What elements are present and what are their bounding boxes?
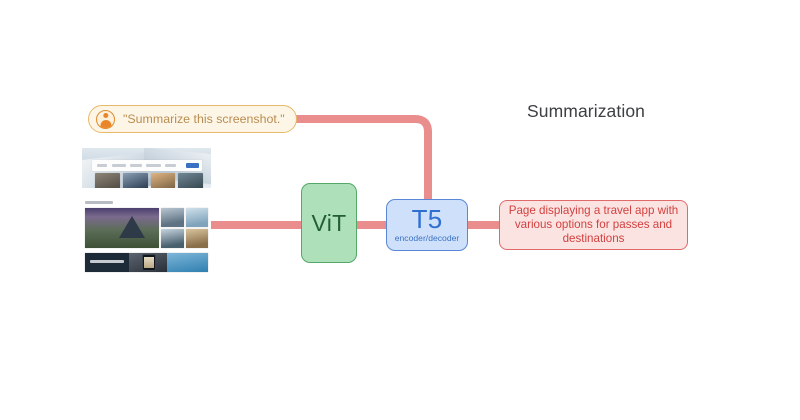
t5-title: T5: [412, 206, 443, 232]
screenshot-gallery-hero: [85, 208, 159, 248]
vit-label: ViT: [312, 210, 347, 237]
screenshot-promo-banner: [85, 253, 208, 272]
screenshot-gallery-tile: [161, 229, 184, 248]
screenshot-card: [178, 173, 203, 188]
screenshot-card-row: [95, 173, 203, 188]
screenshot-card: [95, 173, 120, 188]
input-screenshot-thumbnail: [82, 148, 211, 273]
screenshot-nav-cta-button: [186, 163, 199, 168]
screenshot-gallery-tile: [186, 208, 208, 227]
prompt-bubble[interactable]: "Summarize this screenshot.": [88, 105, 297, 133]
user-avatar-icon: [96, 110, 115, 129]
screenshot-gallery: [85, 208, 208, 248]
screenshot-gallery-tile: [161, 208, 184, 227]
screenshot-card: [151, 173, 176, 188]
screenshot-gallery-tile: [186, 229, 208, 248]
diagram-title: Summarization: [527, 101, 645, 122]
output-text: Page displaying a travel app with variou…: [500, 204, 687, 246]
screenshot-section-label: [85, 201, 113, 204]
screenshot-phone-mockup: [142, 254, 156, 271]
screenshot-hero-section: [82, 148, 211, 188]
screenshot-card: [123, 173, 148, 188]
screenshot-navbar: [92, 160, 202, 171]
t5-node[interactable]: T5 encoder/decoder: [386, 199, 468, 251]
t5-subtitle: encoder/decoder: [395, 233, 460, 243]
prompt-text: "Summarize this screenshot.": [123, 112, 285, 126]
vit-node[interactable]: ViT: [301, 183, 357, 263]
diagram-canvas: Summarization "Summarize this screenshot…: [0, 0, 800, 420]
output-node[interactable]: Page displaying a travel app with variou…: [499, 200, 688, 250]
